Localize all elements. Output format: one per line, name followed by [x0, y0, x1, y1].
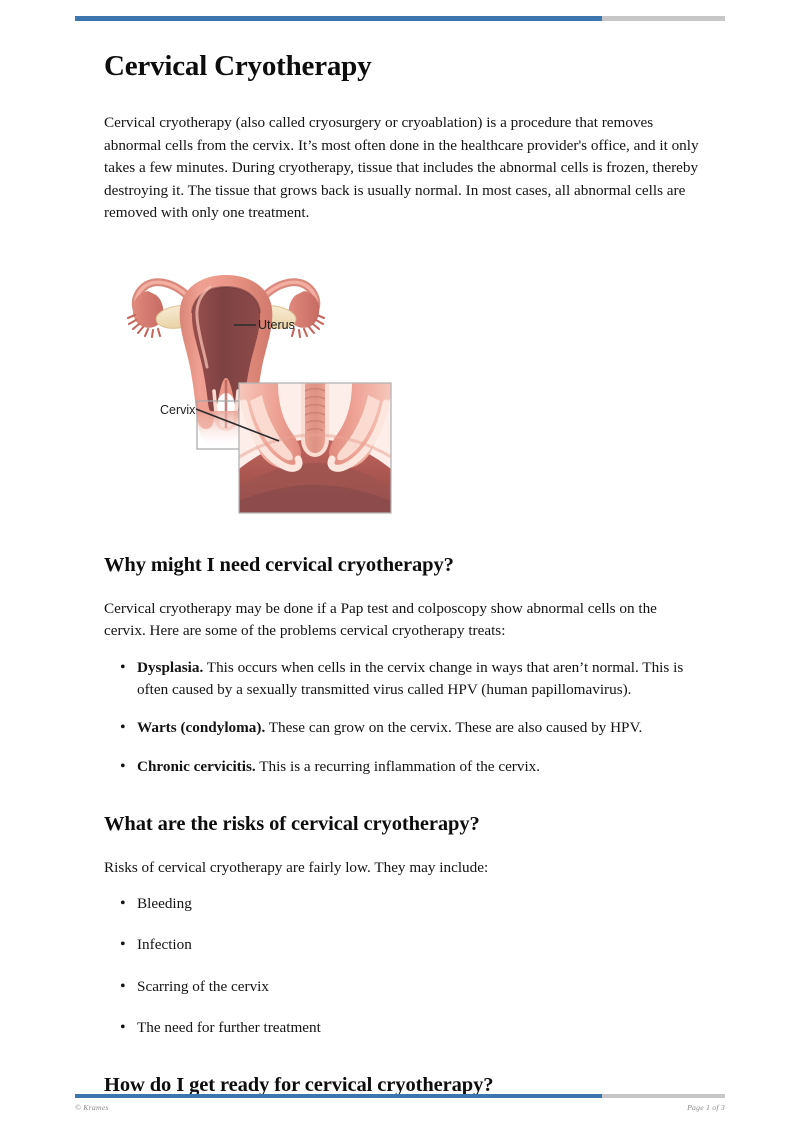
footer-copyright: © Krames	[75, 1103, 109, 1112]
figure-label-cervix: Cervix	[160, 403, 195, 417]
footer-rule-gray-segment	[602, 1094, 726, 1098]
list-item-lead: Warts (condyloma).	[137, 719, 265, 736]
list-item: Dysplasia. This occurs when cells in the…	[104, 657, 700, 702]
anatomy-figure: Uterus Cervix	[126, 251, 426, 519]
list-item-text: The need for further treatment	[137, 1019, 321, 1036]
figure-label-uterus: Uterus	[258, 318, 295, 332]
section-paragraph-why: Cervical cryotherapy may be done if a Pa…	[104, 598, 700, 643]
list-item-text: Infection	[137, 936, 192, 953]
list-item-text: Bleeding	[137, 895, 192, 912]
list-item: Bleeding	[104, 893, 700, 915]
header-rule-blue-segment	[75, 16, 602, 21]
intro-paragraph: Cervical cryotherapy (also called cryosu…	[104, 112, 700, 225]
section-heading-why: Why might I need cervical cryotherapy?	[104, 553, 700, 578]
list-item: Chronic cervicitis. This is a recurring …	[104, 756, 700, 778]
footer-rule-blue-segment	[75, 1094, 602, 1098]
footer-accent-rule	[75, 1094, 725, 1098]
bullet-list-risks: Bleeding Infection Scarring of the cervi…	[104, 893, 700, 1039]
bullet-list-why: Dysplasia. This occurs when cells in the…	[104, 657, 700, 778]
list-item: Scarring of the cervix	[104, 976, 700, 998]
document-page: Cervical Cryotherapy Cervical cryotherap…	[0, 0, 800, 1130]
page-title: Cervical Cryotherapy	[104, 50, 700, 82]
cervical-canal-shape	[304, 383, 326, 453]
section-paragraph-risks: Risks of cervical cryotherapy are fairly…	[104, 857, 700, 880]
list-item: Warts (condyloma). These can grow on the…	[104, 717, 700, 739]
list-item-text: This occurs when cells in the cervix cha…	[137, 659, 683, 698]
document-content: Cervical Cryotherapy Cervical cryotherap…	[104, 50, 700, 1118]
list-item-lead: Dysplasia.	[137, 659, 203, 676]
header-accent-rule	[75, 16, 725, 21]
list-item-text: Scarring of the cervix	[137, 978, 269, 995]
list-item: Infection	[104, 934, 700, 956]
list-item-lead: Chronic cervicitis.	[137, 758, 256, 775]
header-rule-gray-segment	[602, 16, 726, 21]
section-heading-risks: What are the risks of cervical cryothera…	[104, 812, 700, 837]
uterus-cervix-illustration	[126, 251, 426, 519]
footer-page-number: Page 1 of 3	[687, 1103, 725, 1112]
list-item-text: This is a recurring inflammation of the …	[256, 758, 540, 775]
list-item-text: These can grow on the cervix. These are …	[265, 719, 642, 736]
list-item: The need for further treatment	[104, 1017, 700, 1039]
